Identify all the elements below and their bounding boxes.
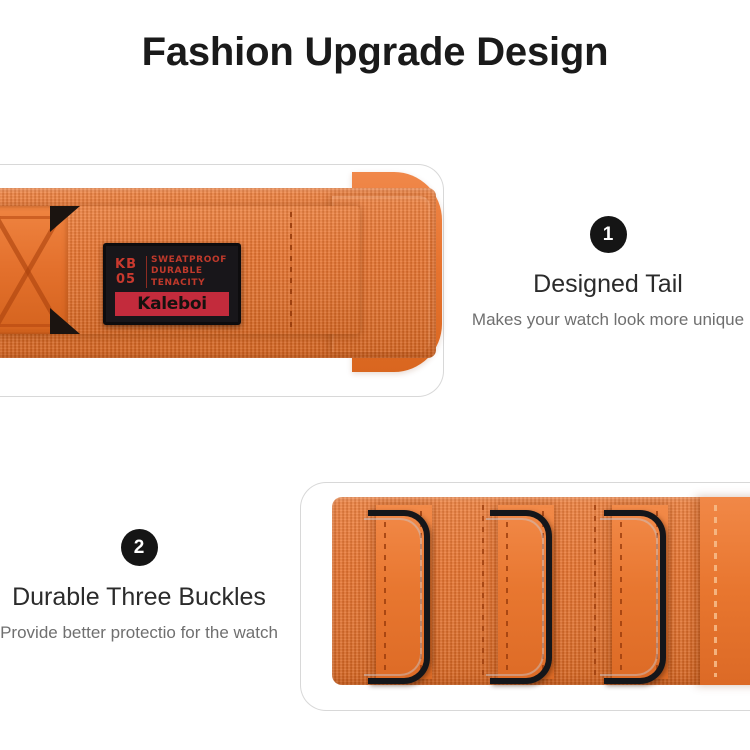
buckle-loop-2 — [490, 510, 552, 684]
feature-title-2: Durable Three Buckles — [0, 582, 289, 612]
label-claim-1: SWEATPROOF — [151, 255, 227, 267]
strap-shadow-wedge-top — [50, 206, 80, 232]
buckle-loop-3 — [604, 510, 666, 684]
infographic-page: Fashion Upgrade Design KB 05 SWEATPROOF … — [0, 0, 750, 750]
strap-shadow-wedge-bottom — [50, 308, 80, 334]
feature-callout-1: 1 Designed Tail Makes your watch look mo… — [458, 216, 750, 331]
feature-callout-2: 2 Durable Three Buckles Provide better p… — [0, 529, 289, 644]
strap-stitch-line-free-1 — [482, 505, 484, 677]
strap-stitch-line-free-2 — [594, 505, 596, 677]
woven-brand-label: KB 05 SWEATPROOF DURABLE TENACITY Kalebo… — [103, 243, 241, 325]
overlap-stitch-line — [714, 505, 717, 677]
feature-description-2: Provide better protectio for the watch — [0, 621, 289, 644]
label-code-line-1: KB — [106, 257, 146, 272]
brand-name: Kaleboi — [137, 294, 207, 314]
feature-number-badge-1: 1 — [590, 216, 627, 253]
label-claims: SWEATPROOF DURABLE TENACITY — [151, 255, 227, 290]
buckle-loop-1 — [368, 510, 430, 684]
feature-title-1: Designed Tail — [458, 269, 750, 299]
label-model-code: KB 05 — [106, 257, 146, 287]
label-claim-2: DURABLE — [151, 266, 227, 278]
label-code-line-2: 05 — [106, 272, 146, 287]
label-brand-banner: Kaleboi — [115, 292, 229, 316]
strap-stitch-line — [290, 212, 292, 328]
strap-overlap-edge — [700, 497, 750, 685]
label-claim-3: TENACITY — [151, 278, 227, 290]
feature-number-badge-2: 2 — [121, 529, 158, 566]
page-title: Fashion Upgrade Design — [0, 30, 750, 75]
label-divider — [146, 256, 147, 288]
label-top-row: KB 05 SWEATPROOF DURABLE TENACITY — [106, 248, 238, 296]
feature-description-1: Makes your watch look more unique — [458, 308, 750, 331]
